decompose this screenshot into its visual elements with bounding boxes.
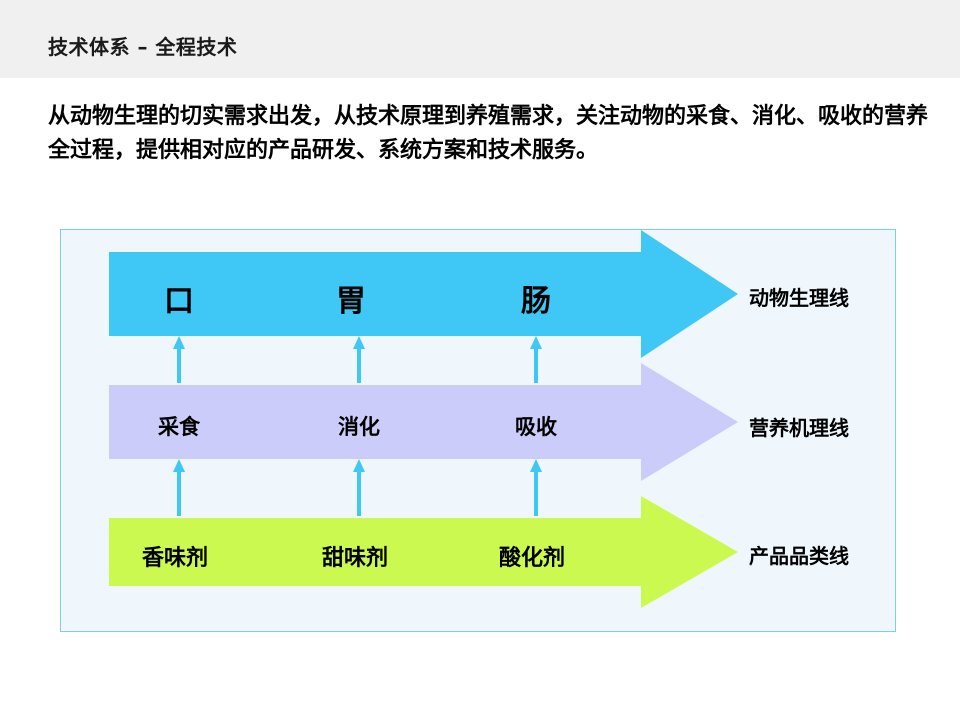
arrow-nutrition-line (109, 363, 738, 481)
page-title: 技术体系 – 全程技术 (48, 31, 237, 60)
cell-physiology-2: 胃 (336, 276, 366, 320)
cell-physiology-1: 口 (164, 276, 194, 320)
arrow-physiology-line (109, 230, 738, 358)
intro-paragraph: 从动物生理的切实需求出发，从技术原理到养殖需求，关注动物的采食、消化、吸收的营养… (48, 100, 928, 168)
header-bar: 技术体系 – 全程技术 (0, 0, 960, 78)
cell-product-3: 酸化剂 (499, 540, 565, 572)
row-label-nutrition: 营养机理线 (749, 412, 849, 441)
diagram-panel: 口 胃 肠 采食 消化 吸收 香味剂 甜味剂 酸化剂 动物生理线 营养机理线 产… (60, 229, 896, 632)
cell-product-2: 甜味剂 (322, 540, 388, 572)
row-label-physiology: 动物生理线 (749, 282, 849, 311)
cell-nutrition-2: 消化 (338, 411, 380, 441)
connector-arrows-nutrition-to-physiology (173, 336, 542, 383)
row-label-product: 产品品类线 (749, 540, 849, 569)
cell-nutrition-1: 采食 (158, 411, 200, 441)
cell-physiology-3: 肠 (521, 276, 551, 320)
connector-arrows-product-to-nutrition (173, 459, 542, 516)
cell-nutrition-3: 吸收 (515, 411, 557, 441)
cell-product-1: 香味剂 (142, 540, 208, 572)
